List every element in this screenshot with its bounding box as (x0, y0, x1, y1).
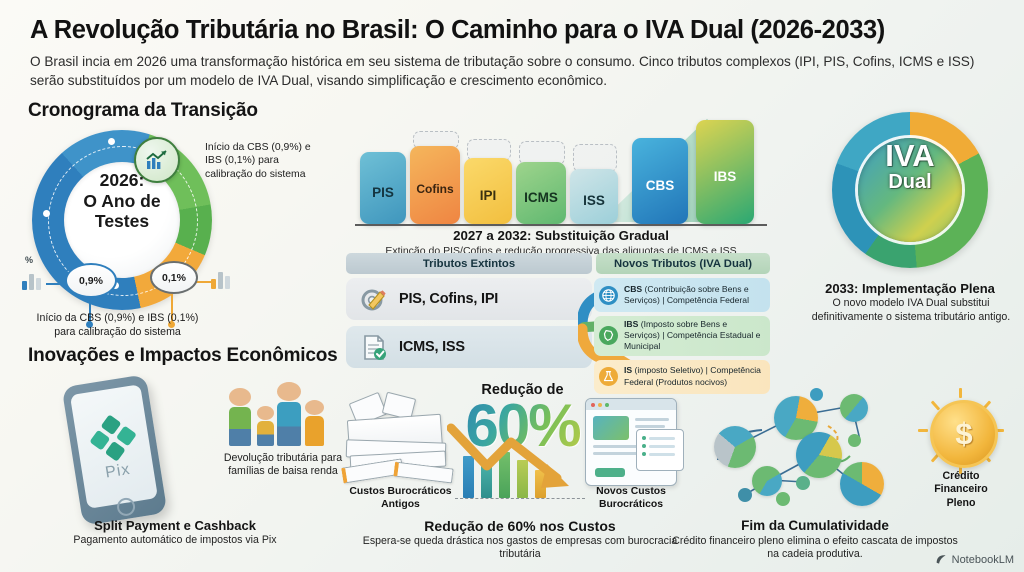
caption-pix-sub: Pagamento automático de impostos via Pix (40, 534, 310, 547)
family-illustration (225, 378, 340, 446)
caption-2033-title: 2033: Implementação Plena (795, 281, 1024, 296)
window-text-line (635, 425, 665, 428)
iva-dual-center-label: IVA Dual (832, 140, 988, 193)
window-action-button (595, 468, 625, 477)
window-frame (585, 398, 677, 486)
label-new-costs: Novos Custos Burocráticos (578, 485, 684, 511)
bar-chart-caption-title: 2027 a 2032: Substituição Gradual (355, 228, 767, 243)
note-bottom-line2: para calibração do sistema (10, 326, 225, 340)
notebooklm-logo-icon (935, 553, 948, 566)
bar-ibs: IBS (696, 120, 754, 224)
family-figure-adult-left (229, 388, 251, 446)
network-dot (848, 434, 861, 447)
window-hero-tile (593, 416, 629, 440)
caption-family-devolucao: Devolução tributária para famílias de ba… (222, 452, 344, 479)
donut-center-line2: O Ano de (52, 191, 192, 212)
pix-phone-illustration: Pix (52, 375, 182, 525)
donut-center-line3: Testes (52, 211, 192, 232)
window-popup-panel (636, 429, 684, 471)
iva-label-line1: IVA (832, 140, 988, 171)
section-heading-inovacoes: Inovações e Impactos Econômicos (28, 345, 338, 367)
label-credito-financeiro-pleno: Crédito Financeiro Pleno (920, 470, 1002, 510)
family-figure-adult-right (277, 382, 301, 446)
network-dot (738, 488, 752, 502)
caption-cumulatividade-title: Fim da Cumulatividade (690, 518, 940, 533)
table-row-extinct: PIS, Cofins, IPI (346, 278, 592, 320)
mini-bars-right-icon (211, 269, 230, 289)
network-node (714, 426, 756, 468)
timeline-2026-donut: 2026: O Ano de Testes 0,9% 0,1% (22, 125, 222, 325)
percent-symbol-label: % (25, 255, 33, 265)
down-arrow-icon (447, 422, 592, 500)
coin-icon: $ (930, 400, 998, 468)
pix-brand-text: Pix (81, 457, 154, 486)
bar-label-ibs: IBS (714, 169, 737, 184)
bar-pis: PIS (360, 152, 406, 224)
bar-label-iss: ISS (583, 193, 605, 208)
bar-label-pis: PIS (372, 185, 394, 200)
brazil-map-icon (599, 326, 618, 345)
caption-2033-sub: O novo modelo IVA Dual substitui definit… (805, 297, 1017, 324)
bar-label-cbs: CBS (646, 178, 675, 193)
phone-screen: Pix (70, 384, 158, 509)
section-heading-cronograma: Cronograma da Transição (28, 100, 258, 122)
caption-cumulatividade-sub: Crédito financeiro pleno elimina o efeit… (672, 535, 958, 562)
bar-label-icms: ICMS (524, 190, 558, 205)
bar-chart-baseline (355, 224, 767, 226)
bar-label-cofins: Cofins (416, 182, 453, 196)
pix-logo-icon (89, 414, 136, 461)
network-node (840, 394, 868, 422)
network-dot (776, 492, 790, 506)
donut-center-line1: 2026: (52, 170, 192, 191)
marker-ibs-0-1: 0,1% (150, 261, 198, 294)
column-header-new: Novos Tributos (IVA Dual) (596, 253, 770, 274)
bar-icms: ICMS (516, 162, 566, 224)
old-paperwork-illustration (340, 395, 460, 490)
bar-cbs: CBS (632, 138, 688, 224)
marker-cbs-0-9: 0,9% (65, 263, 117, 298)
network-node (840, 462, 884, 506)
flask-icon (599, 367, 618, 386)
notebooklm-watermark: NotebookLM (935, 553, 1014, 566)
watermark-label: NotebookLM (952, 554, 1014, 566)
table-row-extinct: ICMS, ISS (346, 326, 592, 368)
caption-reduction-title: Redução de 60% nos Custos (355, 518, 685, 534)
caption-reduction-sub: Espera-se queda drástica nos gastos de e… (350, 535, 690, 562)
note-cbs-ibs-right: Início da CBS (0,9%) e IBS (0,1%) para c… (205, 141, 320, 181)
note-cbs-ibs-bottom: Início da CBS (0,9%) e IBS (0,1%) para c… (10, 312, 225, 339)
supply-chain-network-illustration (700, 382, 935, 512)
page-subtitle: O Brasil incia em 2026 uma transformação… (30, 52, 992, 90)
new-tax-description: CBS (Contribuição sobre Bens e Serviços)… (624, 284, 764, 306)
network-node (752, 466, 782, 496)
tax-mapping-table: Tributos Extintos Novos Tributos (IVA Du… (346, 253, 770, 274)
iva-label-line2: Dual (832, 171, 988, 193)
window-titlebar (586, 399, 676, 410)
declining-trend-chart (455, 440, 585, 502)
mini-bars-left-icon (22, 270, 41, 290)
phone-body: Pix (62, 374, 168, 526)
bar-ghost-iss (573, 144, 617, 172)
family-figure-child-right (305, 400, 324, 446)
bar-iss: ISS (570, 169, 618, 224)
window-text-line (635, 418, 669, 421)
column-header-extinct: Tributos Extintos (346, 253, 592, 274)
bar-cofins: Cofins (410, 146, 460, 224)
new-system-screen-illustration (585, 398, 677, 486)
tax-transition-bar-chart: PISCofinsIPIICMSISSCBSIBS (360, 116, 760, 224)
donut-center-label: 2026: O Ano de Testes (52, 170, 192, 232)
label-old-costs: Custos Burocráticos Antigos (338, 485, 463, 511)
table-row-new-tax: IBS (Imposto sobre Bens e Serviços) | Co… (594, 316, 770, 356)
bar-label-ipi: IPI (480, 188, 497, 203)
note-bottom-line1: Início da CBS (0,9%) e IBS (0,1%) (10, 312, 225, 326)
ring-dot-top (108, 138, 115, 145)
family-figure-child-left (257, 406, 274, 446)
table-header-row: Tributos Extintos Novos Tributos (IVA Du… (346, 253, 770, 274)
extinct-taxes-column: PIS, Cofins, IPIICMS, ISS (346, 278, 592, 374)
infographic-canvas: A Revolução Tributária no Brasil: O Cami… (0, 0, 1024, 572)
page-title: A Revolução Tributária no Brasil: O Cami… (30, 16, 1005, 45)
new-tax-description: IBS (Imposto sobre Bens e Serviços) | Co… (624, 319, 764, 353)
network-dot (810, 388, 823, 401)
table-row-new-tax: CBS (Contribuição sobre Bens e Serviços)… (594, 278, 770, 312)
bar-ipi: IPI (464, 158, 512, 224)
caption-pix-title: Split Payment e Cashback (55, 518, 295, 533)
document-check-icon (360, 333, 388, 361)
ring-dot-left (43, 210, 50, 217)
new-taxes-column: CBS (Contribuição sobre Bens e Serviços)… (594, 278, 770, 398)
extinct-tax-label: ICMS, ISS (399, 339, 465, 355)
globe-icon (599, 286, 618, 305)
extinct-tax-label: PIS, Cofins, IPI (399, 291, 498, 307)
network-node (796, 432, 842, 478)
network-dot (796, 476, 810, 490)
gear-pencil-icon (360, 285, 388, 313)
